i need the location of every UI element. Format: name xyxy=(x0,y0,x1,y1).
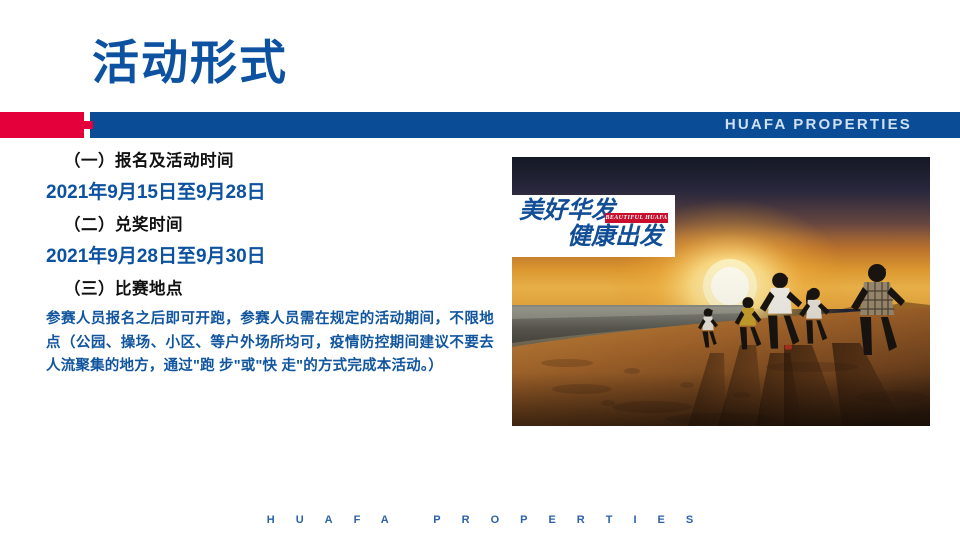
band-notch-tab xyxy=(84,121,93,129)
slide: 活动形式 HUAFA PROPERTIES （一）报名及活动时间 2021年9月… xyxy=(0,0,960,540)
section-date-2: 2021年9月28日至9月30日 xyxy=(46,240,496,274)
page-title: 活动形式 xyxy=(92,32,288,94)
footer-brand: HUAFA PROPERTIES xyxy=(0,514,960,526)
logo-english-badge: BEAUTIFUL HUAFA xyxy=(605,213,668,223)
hero-photo: 美好华发 BEAUTIFUL HUAFA 健康出发 xyxy=(512,157,930,426)
section-heading-1: （一）报名及活动时间 xyxy=(46,146,496,176)
header-band: HUAFA PROPERTIES xyxy=(0,112,960,138)
logo-line-1: 美好华发 xyxy=(519,198,615,224)
section-date-1: 2021年9月15日至9月28日 xyxy=(46,176,496,210)
logo-line-2: 健康出发 xyxy=(567,224,663,250)
body-paragraph: 参赛人员报名之后即可开跑，参赛人员需在规定的活动期间，不限地点（公园、操场、小区… xyxy=(46,308,494,379)
content-column: （一）报名及活动时间 2021年9月15日至9月28日 （二）兑奖时间 2021… xyxy=(46,146,496,379)
brand-label: HUAFA PROPERTIES xyxy=(725,112,912,138)
section-heading-3: （三）比赛地点 xyxy=(46,274,496,304)
section-heading-2: （二）兑奖时间 xyxy=(46,210,496,240)
band-red-block xyxy=(0,112,84,138)
huafa-logo-card: 美好华发 BEAUTIFUL HUAFA 健康出发 xyxy=(512,195,675,257)
